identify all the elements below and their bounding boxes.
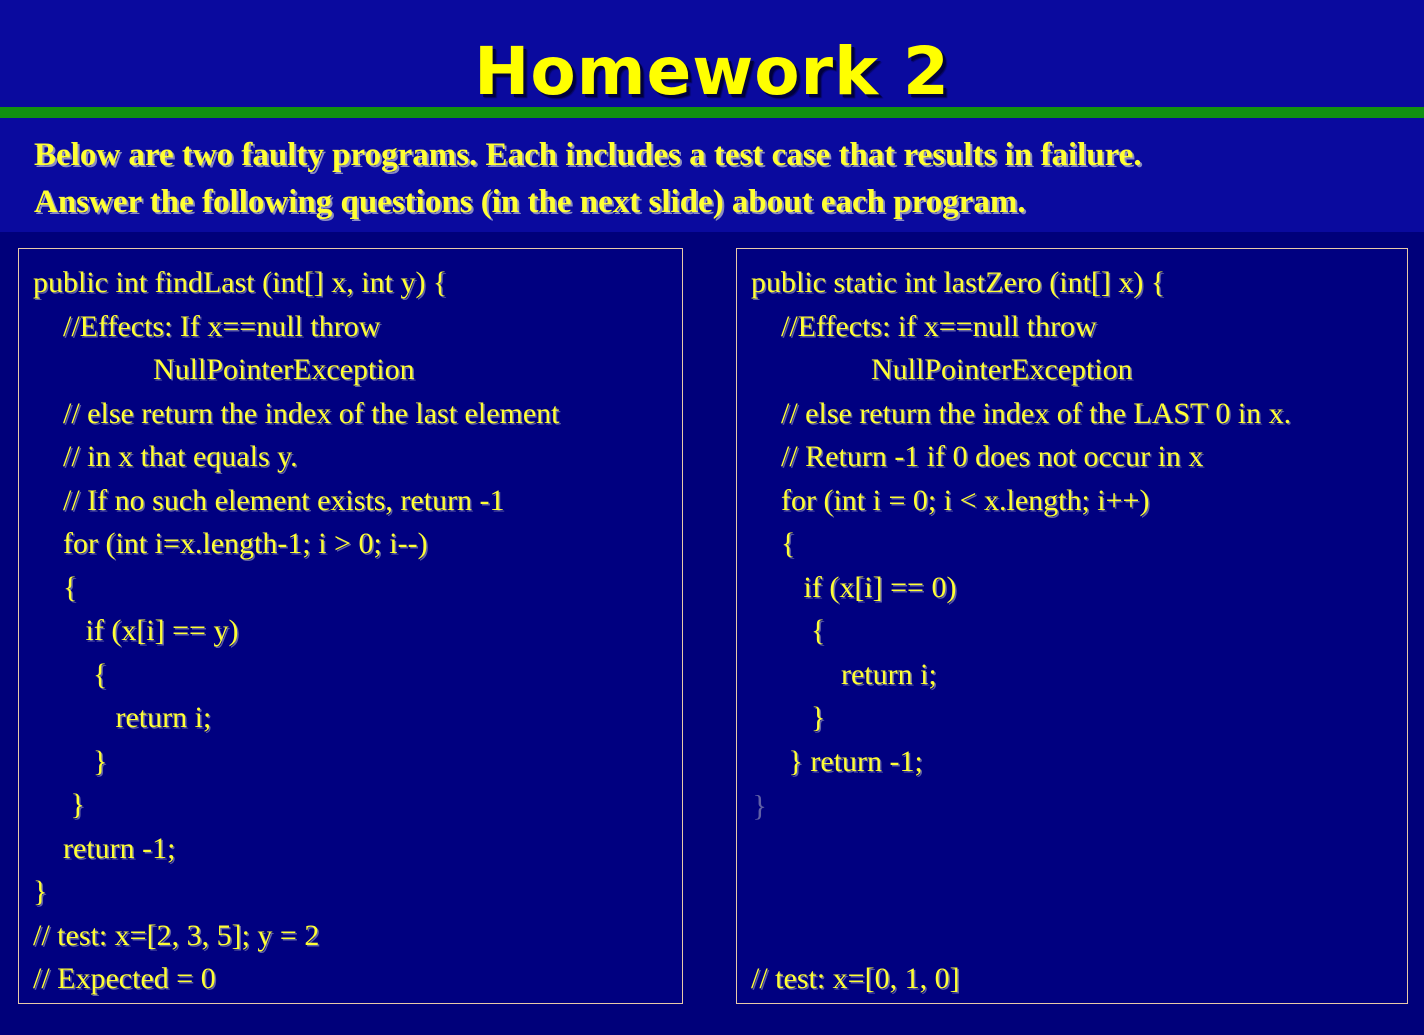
code-line: for (int i = 0; i < x.length; i++) (751, 479, 1403, 523)
subtitle-line-1: Below are two faulty programs. Each incl… (34, 132, 1394, 179)
code-line: } return -1; (751, 740, 1403, 784)
code-line: for (int i=x.length-1; i > 0; i--) (33, 522, 678, 566)
code-line: NullPointerException (751, 348, 1403, 392)
code-line: if (x[i] == y) (33, 609, 678, 653)
code-line: // If no such element exists, return -1 (33, 479, 678, 523)
code-line: //Effects: If x==null throw (33, 305, 678, 349)
code-line: // in x that equals y. (33, 435, 678, 479)
code-line: { (33, 653, 678, 697)
slide-subtitle: Below are two faulty programs. Each incl… (34, 132, 1394, 226)
code-line: return -1; (33, 827, 678, 871)
code-block-lastzero: public static int lastZero (int[] x) { /… (751, 261, 1403, 1001)
code-line-test: // test: x=[2, 3, 5]; y = 2 (33, 914, 678, 958)
code-line: if (x[i] == 0) (751, 566, 1403, 610)
code-line: //Effects: if x==null throw (751, 305, 1403, 349)
code-line: // Return -1 if 0 does not occur in x (751, 435, 1403, 479)
code-line: } (751, 696, 1403, 740)
code-line: } (33, 870, 678, 914)
code-line: NullPointerException (33, 348, 678, 392)
code-line-expected: // Expected = 0 (33, 957, 678, 1001)
code-line: { (751, 522, 1403, 566)
code-block-findlast: public int findLast (int[] x, int y) { /… (33, 261, 678, 1001)
code-line-blank (751, 827, 1403, 871)
code-line-expected: // test: x=[0, 1, 0] (751, 957, 1403, 1001)
code-line: // else return the index of the last ele… (33, 392, 678, 436)
code-line: public int findLast (int[] x, int y) { (33, 261, 678, 305)
subtitle-line-2: Answer the following questions (in the n… (34, 179, 1394, 226)
code-line: } (33, 783, 678, 827)
code-line: public static int lastZero (int[] x) { (751, 261, 1403, 305)
code-line: return i; (33, 696, 678, 740)
code-line-blank (751, 870, 1403, 914)
slide-canvas: Homework 2 Below are two faulty programs… (0, 0, 1424, 1035)
page-title: Homework 2 (0, 36, 1424, 108)
code-line: { (751, 609, 1403, 653)
code-line: // else return the index of the LAST 0 i… (751, 392, 1403, 436)
code-line: } (33, 740, 678, 784)
code-line-blank: } (751, 783, 1403, 827)
code-panel-lastzero: public static int lastZero (int[] x) { /… (736, 248, 1408, 1004)
code-line-test (751, 914, 1403, 958)
code-panel-findlast: public int findLast (int[] x, int y) { /… (18, 248, 683, 1004)
code-line: return i; (751, 653, 1403, 697)
code-line: { (33, 566, 678, 610)
